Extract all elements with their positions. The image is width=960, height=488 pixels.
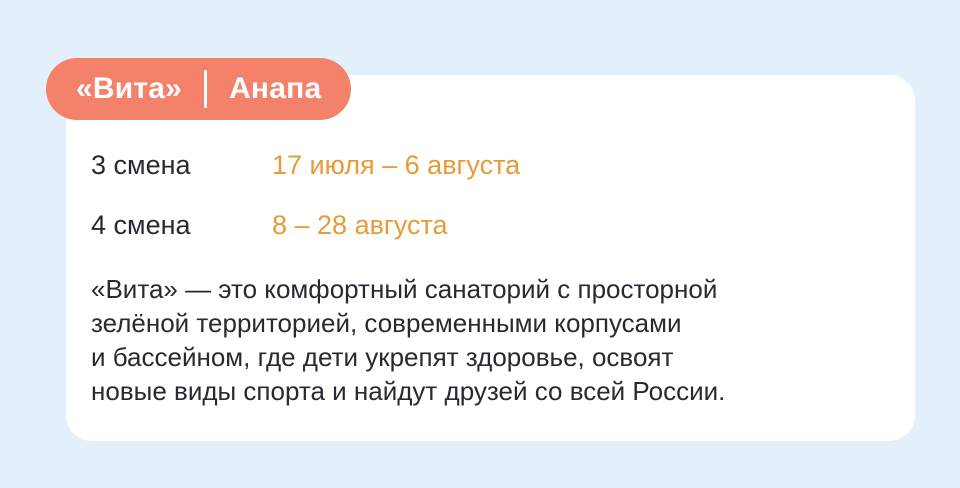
description-line: «Вита» — это комфортный санаторий с прос… (91, 272, 891, 306)
shift-dates: 8 – 28 августа (272, 210, 448, 240)
shift-schedule-list: 3 смена 17 июля – 6 августа 4 смена 8 – … (91, 150, 520, 270)
shift-row: 3 смена 17 июля – 6 августа (91, 150, 520, 210)
description-line: и бассейном, где дети укрепят здоровье, … (91, 340, 891, 374)
shift-row: 4 смена 8 – 28 августа (91, 210, 520, 270)
description-line: зелёной территорией, современными корпус… (91, 306, 891, 340)
shift-label: 3 смена (91, 150, 272, 180)
shift-dates: 17 июля – 6 августа (272, 150, 520, 180)
camp-name-label: «Вита» (76, 74, 182, 104)
camp-description: «Вита» — это комфортный санаторий с прос… (91, 272, 891, 408)
page-canvas: «Вита» Анапа 3 смена 17 июля – 6 августа… (0, 0, 960, 488)
shift-label: 4 смена (91, 210, 272, 240)
camp-location-label: Анапа (229, 74, 321, 104)
badge-divider (204, 70, 207, 108)
description-line: новые виды спорта и найдут друзей со все… (91, 374, 891, 408)
camp-title-badge: «Вита» Анапа (46, 58, 351, 120)
